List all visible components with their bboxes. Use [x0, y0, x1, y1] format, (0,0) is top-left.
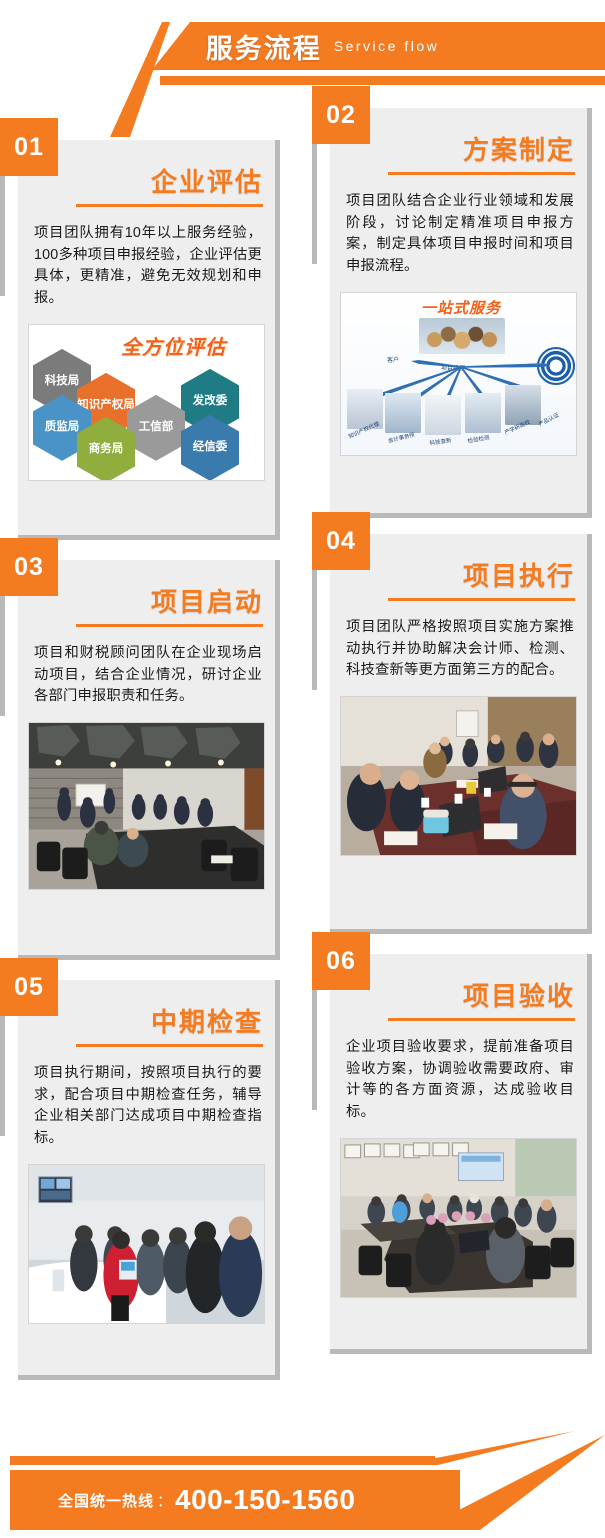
- service-caption-3: 科技查新: [429, 436, 452, 447]
- card-body-text: 项目执行期间，按照项目执行的要求，配合项目中期检查任务，辅导企业相关部门达成项目…: [18, 1047, 275, 1164]
- service-thumbnail-2: [385, 393, 421, 433]
- meeting-room-photo: [29, 723, 264, 889]
- service-thumbnail-3: [425, 395, 461, 435]
- card-body-text: 项目和财税顾问团队在企业现场启动项目，结合企业情况，研讨企业各部门申报职责和任务…: [18, 627, 275, 722]
- step-number-badge: 05: [0, 958, 58, 1016]
- card-media-photo: [340, 696, 577, 856]
- card-media-photo: [28, 1164, 265, 1324]
- card-body-text: 项目团队拥有10年以上服务经验，100多种项目申报经验，企业评估更具体，更精准，…: [18, 207, 275, 324]
- page-title: 服务流程: [206, 27, 322, 66]
- hexagon-cluster: 全方位评估 科技局知识产权局发改委质监局工信部经信委商务局: [29, 325, 265, 480]
- infographic-page: 服务流程 Service flow 01 企业评估 项目团队拥有10年以上服务经…: [0, 0, 605, 1538]
- header-title-group: 服务流程 Service flow: [0, 22, 605, 70]
- step-number-badge: 04: [312, 512, 370, 570]
- badge-stem: [0, 596, 5, 716]
- page-footer: 全国统一热线 ： 400-150-1560: [0, 1420, 605, 1538]
- step-number-badge: 03: [0, 538, 58, 596]
- hotline-colon: ：: [157, 1490, 172, 1511]
- badge-stem: [312, 570, 317, 690]
- card-media-photo: [28, 722, 265, 890]
- one-stop-service-diagram: 一站式服务 客户项目经理知识产权代理会计事务所科技查新检验检测产学研高校产品认证: [341, 293, 577, 455]
- hexagon-6: 经信委: [181, 415, 239, 481]
- card-media-hexagon-chart: 全方位评估 科技局知识产权局发改委质监局工信部经信委商务局: [28, 324, 265, 481]
- badge-stem: [0, 1016, 5, 1136]
- hexagon-chart-caption: 全方位评估: [121, 331, 226, 360]
- card-body-text: 企业项目验收要求，提前准备项目验收方案，协调验收需要政府、审计等的各方面资源，达…: [330, 1021, 587, 1138]
- process-card-04[interactable]: 04 项目执行 项目团队严格按照项目实施方案推动执行并协助解决会计师、检测、科技…: [330, 534, 592, 934]
- step-number-badge: 02: [312, 86, 370, 144]
- team-working-photo: [341, 697, 576, 855]
- hotline-number[interactable]: 400-150-1560: [175, 1484, 355, 1516]
- process-card-06[interactable]: 06 项目验收 企业项目验收要求，提前准备项目验收方案，协调验收需要政府、审计等…: [330, 954, 592, 1354]
- page-subtitle: Service flow: [334, 38, 439, 54]
- page-header: 服务流程 Service flow: [0, 0, 605, 100]
- badge-stem: [312, 144, 317, 264]
- site-visit-photo: [29, 1165, 264, 1323]
- hexagon-5: 工信部: [127, 395, 185, 461]
- service-diagram-caption: 一站式服务: [341, 297, 577, 318]
- badge-stem: [0, 176, 5, 296]
- card-body-text: 项目团队结合企业行业领域和发展阶段，讨论制定精准项目申报方案，制定具体项目申报时…: [330, 175, 587, 292]
- service-caption-4: 检验检测: [467, 433, 490, 445]
- process-card-03[interactable]: 03 项目启动 项目和财税顾问团队在企业现场启动项目，结合企业情况，研讨企业各部…: [18, 560, 280, 960]
- hotline-group: 全国统一热线 ： 400-150-1560: [10, 1470, 460, 1530]
- card-body-text: 项目团队严格按照项目实施方案推动执行并协助解决会计师、检测、科技查新等更方面第三…: [330, 601, 587, 696]
- diagram-node-1: 客户: [387, 355, 399, 364]
- step-number-badge: 06: [312, 932, 370, 990]
- card-media-service-diagram: 一站式服务 客户项目经理知识产权代理会计事务所科技查新检验检测产学研高校产品认证: [340, 292, 577, 456]
- service-diagram-team-photo: [419, 318, 505, 354]
- service-thumbnail-4: [465, 393, 501, 433]
- step-number-badge: 01: [0, 118, 58, 176]
- card-media-photo: [340, 1138, 577, 1298]
- hotline-label: 全国统一热线: [58, 1490, 154, 1511]
- header-accent-stripe: [160, 76, 605, 85]
- process-card-05[interactable]: 05 中期检查 项目执行期间，按照项目执行的要求，配合项目中期检查任务，辅导企业…: [18, 980, 280, 1380]
- acceptance-meeting-photo: [341, 1139, 576, 1297]
- badge-stem: [312, 990, 317, 1110]
- footer-accent-stripe: [10, 1456, 435, 1465]
- process-card-02[interactable]: 02 方案制定 项目团队结合企业行业领域和发展阶段，讨论制定精准项目申报方案，制…: [330, 108, 592, 518]
- process-card-01[interactable]: 01 企业评估 项目团队拥有10年以上服务经验，100多种项目申报经验，企业评估…: [18, 140, 280, 540]
